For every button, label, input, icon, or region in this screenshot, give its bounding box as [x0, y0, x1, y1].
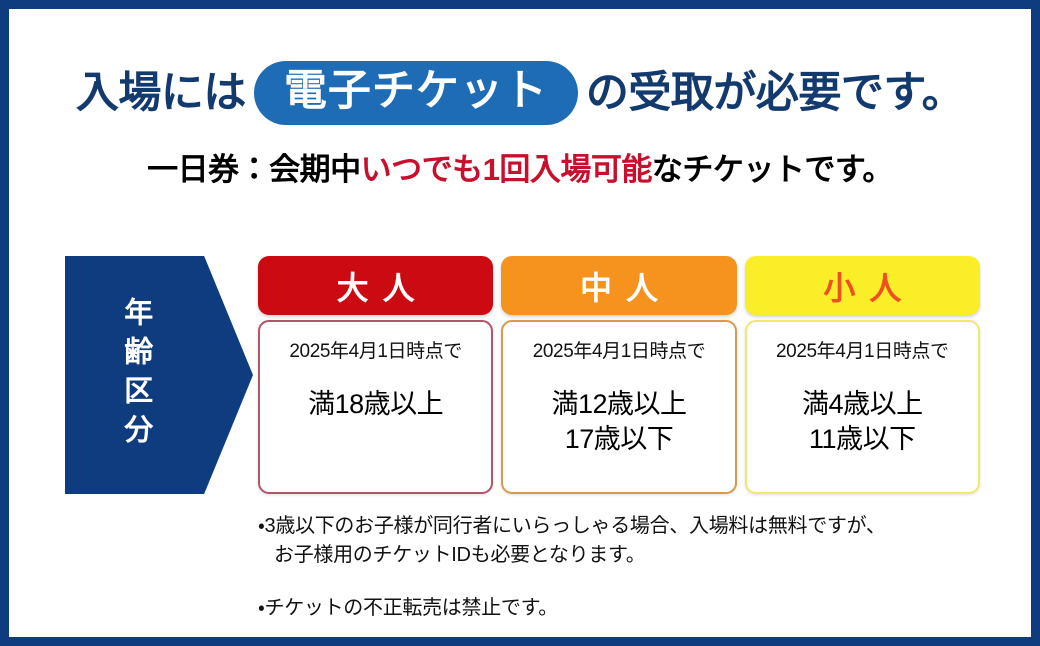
age-column-middle: 中人 2025年4月1日時点で 満12歳以上 17歳以下 [501, 256, 736, 494]
age-range-adult: 満18歳以上 [308, 387, 443, 422]
age-category-arrow-tag: 年齢区分 [65, 256, 253, 494]
age-range-middle-line2: 17歳以下 [551, 422, 686, 457]
age-range-middle: 満12歳以上 17歳以下 [551, 387, 686, 456]
as-of-date-adult: 2025年4月1日時点で [289, 342, 462, 361]
age-range-middle-line1: 満12歳以上 [551, 387, 686, 422]
headline-before: 入場には [76, 72, 246, 115]
footnote-1-line1: ・3歳以下のお子様が同行者にいらっしゃる場合、入場料は無料ですが、 [258, 515, 886, 537]
age-header-middle: 中人 [501, 256, 736, 315]
age-header-child: 小人 [745, 256, 980, 315]
content-panel: 入場には電子チケットの受取が必要です。 一日券：会期中いつでも1回入場可能なチケ… [9, 9, 1031, 637]
as-of-date-middle: 2025年4月1日時点で [533, 342, 706, 361]
ticket-info-graphic: 入場には電子チケットの受取が必要です。 一日券：会期中いつでも1回入場可能なチケ… [0, 0, 1040, 646]
age-column-child: 小人 2025年4月1日時点で 満4歳以上 11歳以下 [745, 256, 980, 494]
as-of-date-child: 2025年4月1日時点で [776, 342, 949, 361]
age-category-label: 年齢区分 [65, 256, 205, 494]
age-range-child-line1: 満4歳以上 [802, 387, 923, 422]
electronic-ticket-pill: 電子チケット [254, 61, 578, 125]
age-range-adult-line1: 満18歳以上 [308, 389, 443, 419]
footnotes: ・3歳以下のお子様が同行者にいらっしゃる場合、入場料は無料ですが、 お子様用のチ… [258, 512, 998, 623]
age-card-child: 2025年4月1日時点で 満4歳以上 11歳以下 [745, 320, 980, 494]
footnote-2-line1: ・チケットの不正転売は禁止です。 [258, 597, 558, 619]
subline-before: 一日券：会期中 [147, 152, 361, 187]
age-card-adult: 2025年4月1日時点で 満18歳以上 [258, 320, 493, 494]
footnote-1-line2: お子様用のチケットIDも必要となります。 [258, 541, 998, 570]
footnote-item: ・3歳以下のお子様が同行者にいらっしゃる場合、入場料は無料ですが、 お子様用のチ… [258, 512, 998, 570]
subline-after: なチケットです。 [652, 152, 893, 187]
headline-after: の受取が必要です。 [586, 72, 964, 115]
age-header-adult: 大人 [258, 256, 493, 315]
age-card-middle: 2025年4月1日時点で 満12歳以上 17歳以下 [501, 320, 736, 494]
subline: 一日券：会期中いつでも1回入場可能なチケットです。 [9, 154, 1031, 185]
age-range-child: 満4歳以上 11歳以下 [802, 387, 923, 456]
age-range-child-line2: 11歳以下 [802, 422, 923, 457]
age-columns: 大人 2025年4月1日時点で 満18歳以上 中人 2025年4月1日時点で 満… [258, 256, 980, 494]
footnote-item: ・チケットの不正転売は禁止です。 [258, 594, 998, 623]
age-column-adult: 大人 2025年4月1日時点で 満18歳以上 [258, 256, 493, 494]
subline-highlight: いつでも1回入場可能 [361, 152, 652, 187]
headline: 入場には電子チケットの受取が必要です。 [9, 61, 1031, 125]
